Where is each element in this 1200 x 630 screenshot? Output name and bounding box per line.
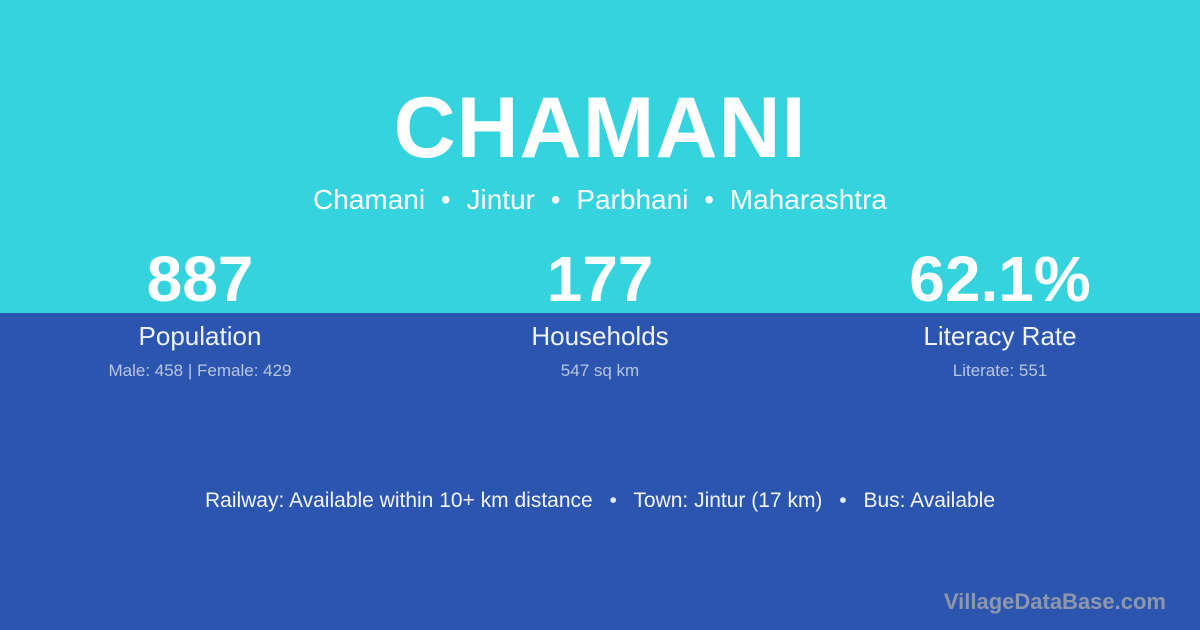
breadcrumb: Chamani • Jintur • Parbhani • Maharashtr…: [0, 182, 1200, 218]
page-title: CHAMANI: [0, 83, 1200, 173]
facility-town: Town: Jintur (17 km): [633, 489, 822, 512]
stat-value-households: 177: [400, 246, 800, 312]
facility-separator: •: [599, 487, 628, 515]
card-content: CHAMANI Chamani • Jintur • Parbhani • Ma…: [0, 0, 1200, 630]
stat-value-literacy-rate: 62.1%: [800, 246, 1200, 312]
stat-label-literacy-rate: Literacy Rate: [800, 321, 1200, 351]
stat-sub-literacy-rate: Literate: 551: [800, 360, 1200, 382]
stat-sub-population: Male: 458 | Female: 429: [0, 360, 400, 382]
stat-label-population: Population: [0, 321, 400, 351]
breadcrumb-item-taluka: Jintur: [466, 184, 534, 215]
stat-households: 177 Households 547 sq km: [400, 246, 800, 382]
stat-population: 887 Population Male: 458 | Female: 429: [0, 246, 400, 382]
stat-literacy-rate: 62.1% Literacy Rate Literate: 551: [800, 246, 1200, 382]
facility-railway: Railway: Available within 10+ km distanc…: [205, 489, 593, 512]
stat-sub-households: 547 sq km: [400, 360, 800, 382]
breadcrumb-item-state: Maharashtra: [730, 184, 887, 215]
breadcrumb-separator: •: [543, 182, 569, 218]
stats-row: 887 Population Male: 458 | Female: 429 1…: [0, 246, 1200, 382]
facility-separator: •: [828, 487, 857, 515]
stat-value-population: 887: [0, 246, 400, 312]
facility-bus: Bus: Available: [863, 489, 995, 512]
stat-label-households: Households: [400, 321, 800, 351]
facilities-line: Railway: Available within 10+ km distanc…: [0, 487, 1200, 515]
breadcrumb-item-district: Parbhani: [576, 184, 688, 215]
breadcrumb-item-village: Chamani: [313, 184, 425, 215]
village-info-card: CHAMANI Chamani • Jintur • Parbhani • Ma…: [0, 0, 1200, 630]
breadcrumb-separator: •: [433, 182, 459, 218]
site-watermark: VillageDataBase.com: [944, 588, 1166, 616]
breadcrumb-separator: •: [696, 182, 722, 218]
